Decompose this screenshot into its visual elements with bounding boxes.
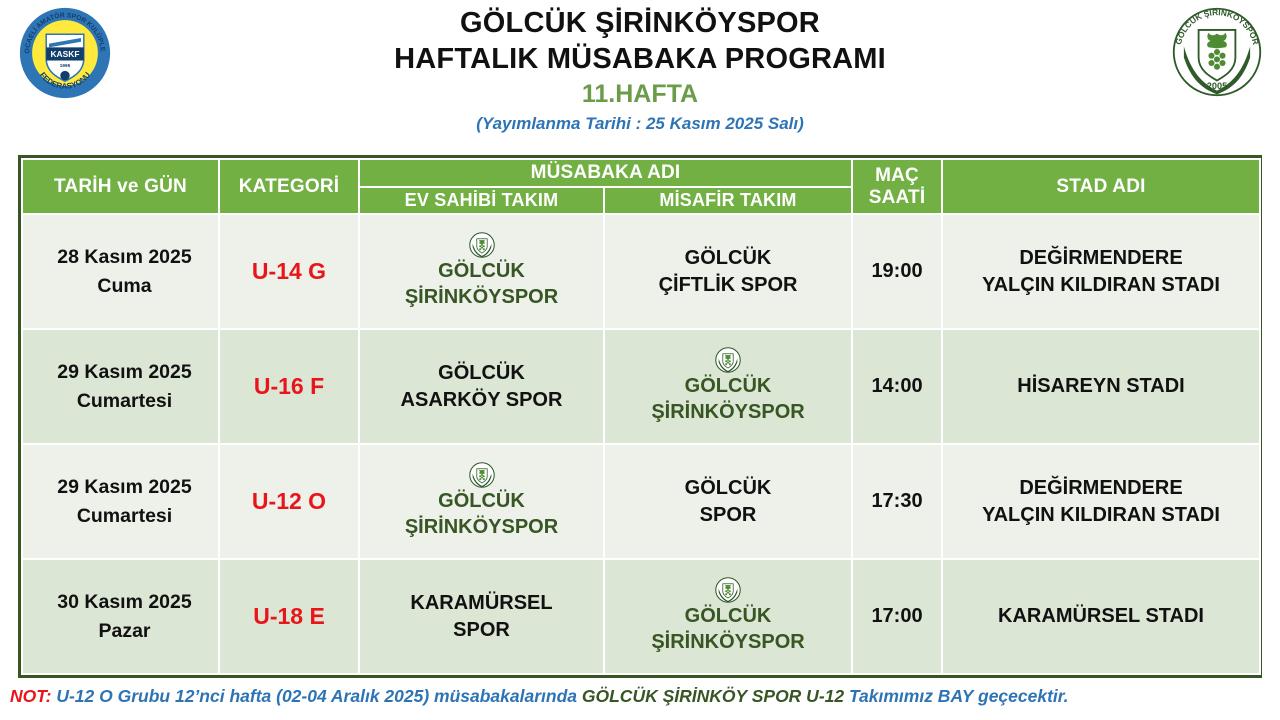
away-team-line2: ÇİFTLİK SPOR (611, 272, 845, 298)
away-team-line2: ŞİRİNKÖYSPOR (611, 400, 845, 426)
cell-category: U-18 E (219, 559, 359, 674)
away-team-line1: GÖLCÜK (611, 245, 845, 271)
cell-match-time: 17:30 (852, 444, 942, 559)
club-badge-icon (469, 462, 495, 488)
home-team-line2: SPOR (366, 617, 597, 643)
cell-match-time: 14:00 (852, 329, 942, 444)
stadium-line2: YALÇIN KILDIRAN STADI (949, 502, 1253, 529)
cell-category: U-14 G (219, 214, 359, 329)
svg-text:1995: 1995 (60, 63, 71, 68)
date-line1: 28 Kasım 2025 (37, 243, 212, 271)
cell-date: 30 Kasım 2025 Pazar (22, 559, 219, 674)
footnote-part1: U-12 O Grubu 12’nci hafta (02-04 Aralık … (56, 686, 577, 706)
table-header-row-1: TARİH ve GÜN KATEGORİ MÜSABAKA ADI MAÇ S… (22, 159, 1260, 187)
cell-stadium: KARAMÜRSEL STADI (942, 559, 1260, 674)
cell-away-team: GÖLCÜK ŞİRİNKÖYSPOR (604, 329, 852, 444)
home-team-line2: ŞİRİNKÖYSPOR (366, 285, 597, 311)
away-team-line2: ŞİRİNKÖYSPOR (611, 630, 845, 656)
club-badge-icon (469, 232, 495, 258)
page-title-line2: HAFTALIK MÜSABAKA PROGRAMI (120, 42, 1160, 78)
table-body: 28 Kasım 2025 Cuma U-14 G (22, 214, 1260, 674)
footnote-part3: Takımımız BAY geçecektir. (849, 686, 1069, 706)
cell-away-team: GÖLCÜK ŞİRİNKÖYSPOR (604, 559, 852, 674)
date-line2: Cumartesi (37, 387, 212, 415)
table-row: 28 Kasım 2025 Cuma U-14 G (22, 214, 1260, 329)
column-header-category: KATEGORİ (219, 159, 359, 214)
table-row: 29 Kasım 2025 Cumartesi U-16 F GÖLCÜK AS… (22, 329, 1260, 444)
title-block: GÖLCÜK ŞİRİNKÖYSPOR HAFTALIK MÜSABAKA PR… (120, 6, 1160, 136)
home-team-line1: GÖLCÜK (366, 360, 597, 386)
cell-home-team: KARAMÜRSEL SPOR (359, 559, 604, 674)
stadium-line1: DEĞİRMENDERE (949, 475, 1253, 502)
club-badge-icon (715, 347, 741, 373)
publish-date: (Yayımlanma Tarihi : 25 Kasım 2025 Salı) (120, 113, 1160, 136)
cell-match-time: 17:00 (852, 559, 942, 674)
stadium-line1: KARAMÜRSEL STADI (949, 603, 1253, 630)
golcuk-sirinkoyspor-logo: GÖLCÜK ŞİRİNKÖYSPOR 2005 (1170, 6, 1264, 98)
cell-date: 28 Kasım 2025 Cuma (22, 214, 219, 329)
cell-away-team: GÖLCÜK ÇİFTLİK SPOR (604, 214, 852, 329)
column-header-home-team: EV SAHİBİ TAKIM (359, 187, 604, 214)
cell-home-team: GÖLCÜK ŞİRİNKÖYSPOR (359, 444, 604, 559)
club-badge-icon (715, 577, 741, 603)
column-header-time-line1: MAÇ (857, 165, 937, 187)
date-line2: Cuma (37, 272, 212, 300)
cell-home-team: GÖLCÜK ASARKÖY SPOR (359, 329, 604, 444)
kaskf-federation-logo: KASKF 1995 KOCAELİ AMATÖR SPOR KULÜPLERİ… (18, 6, 112, 100)
week-label: 11.HAFTA (120, 78, 1160, 111)
cell-date: 29 Kasım 2025 Cumartesi (22, 444, 219, 559)
away-team-line1: GÖLCÜK (611, 475, 845, 501)
home-team-line1: KARAMÜRSEL (366, 590, 597, 616)
stadium-line2: YALÇIN KILDIRAN STADI (949, 272, 1253, 299)
date-line1: 30 Kasım 2025 (37, 588, 212, 616)
weekly-match-program-poster: KASKF 1995 KOCAELİ AMATÖR SPOR KULÜPLERİ… (0, 0, 1280, 720)
cell-date: 29 Kasım 2025 Cumartesi (22, 329, 219, 444)
date-line2: Cumartesi (37, 502, 212, 530)
cell-category: U-16 F (219, 329, 359, 444)
page-title-line1: GÖLCÜK ŞİRİNKÖYSPOR (120, 6, 1160, 42)
column-header-match-group: MÜSABAKA ADI (359, 159, 852, 187)
cell-category: U-12 O (219, 444, 359, 559)
date-line1: 29 Kasım 2025 (37, 358, 212, 386)
column-header-stadium: STAD ADI (942, 159, 1260, 214)
home-team-line1: GÖLCÜK (366, 259, 597, 285)
svg-text:2005: 2005 (1207, 81, 1227, 91)
svg-text:KASKF: KASKF (50, 49, 79, 59)
home-team-line2: ŞİRİNKÖYSPOR (366, 515, 597, 541)
cell-stadium: HİSAREYN STADI (942, 329, 1260, 444)
stadium-line1: DEĞİRMENDERE (949, 245, 1253, 272)
home-team-line1: GÖLCÜK (366, 489, 597, 515)
stadium-line1: HİSAREYN STADI (949, 373, 1253, 400)
column-header-time: MAÇ SAATİ (852, 159, 942, 214)
cell-match-time: 19:00 (852, 214, 942, 329)
table-row: 29 Kasım 2025 Cumartesi U-12 O (22, 444, 1260, 559)
footnote: NOT: U-12 O Grubu 12’nci hafta (02-04 Ar… (10, 686, 1274, 707)
column-header-away-team: MİSAFİR TAKIM (604, 187, 852, 214)
away-team-line2: SPOR (611, 502, 845, 528)
away-team-line1: GÖLCÜK (611, 374, 845, 400)
date-line2: Pazar (37, 617, 212, 645)
column-header-date: TARİH ve GÜN (22, 159, 219, 214)
cell-home-team: GÖLCÜK ŞİRİNKÖYSPOR (359, 214, 604, 329)
footnote-club: GÖLCÜK ŞİRİNKÖY SPOR U-12 (582, 686, 844, 706)
match-schedule-table: TARİH ve GÜN KATEGORİ MÜSABAKA ADI MAÇ S… (18, 155, 1262, 678)
date-line1: 29 Kasım 2025 (37, 473, 212, 501)
cell-away-team: GÖLCÜK SPOR (604, 444, 852, 559)
table-row: 30 Kasım 2025 Pazar U-18 E KARAMÜRSEL SP… (22, 559, 1260, 674)
home-team-line2: ASARKÖY SPOR (366, 387, 597, 413)
column-header-time-line2: SAATİ (857, 187, 937, 209)
cell-stadium: DEĞİRMENDERE YALÇIN KILDIRAN STADI (942, 444, 1260, 559)
footnote-label: NOT: (10, 686, 51, 706)
cell-stadium: DEĞİRMENDERE YALÇIN KILDIRAN STADI (942, 214, 1260, 329)
away-team-line1: GÖLCÜK (611, 604, 845, 630)
